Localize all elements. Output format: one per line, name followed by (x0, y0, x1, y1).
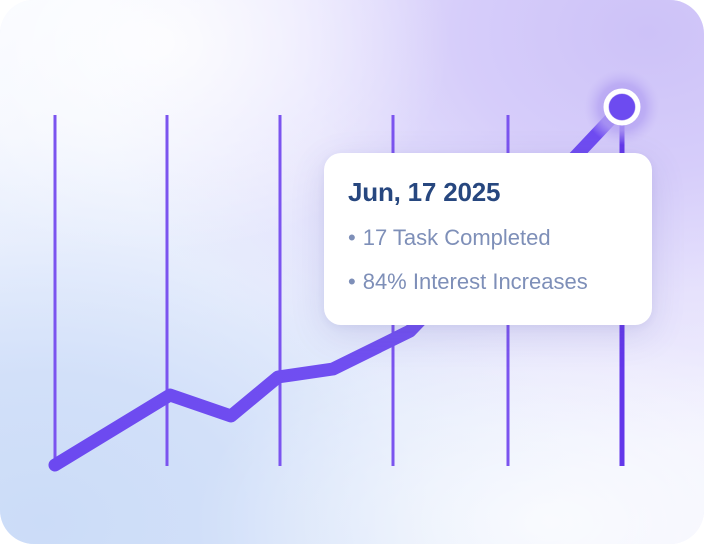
bullet-icon: • (348, 227, 356, 249)
active-point-dot[interactable] (609, 94, 635, 120)
list-item: • 17 Task Completed (348, 227, 628, 249)
bullet-icon: • (348, 271, 356, 293)
tooltip-title: Jun, 17 2025 (348, 179, 628, 205)
tooltip-stats-list: • 17 Task Completed • 84% Interest Incre… (348, 227, 628, 293)
data-point-tooltip: Jun, 17 2025 • 17 Task Completed • 84% I… (324, 153, 652, 325)
tooltip-stat-tasks: 17 Task Completed (363, 227, 551, 249)
tooltip-stat-interest: 84% Interest Increases (363, 271, 588, 293)
analytics-chart-widget: Jun, 17 2025 • 17 Task Completed • 84% I… (0, 0, 704, 544)
list-item: • 84% Interest Increases (348, 271, 628, 293)
